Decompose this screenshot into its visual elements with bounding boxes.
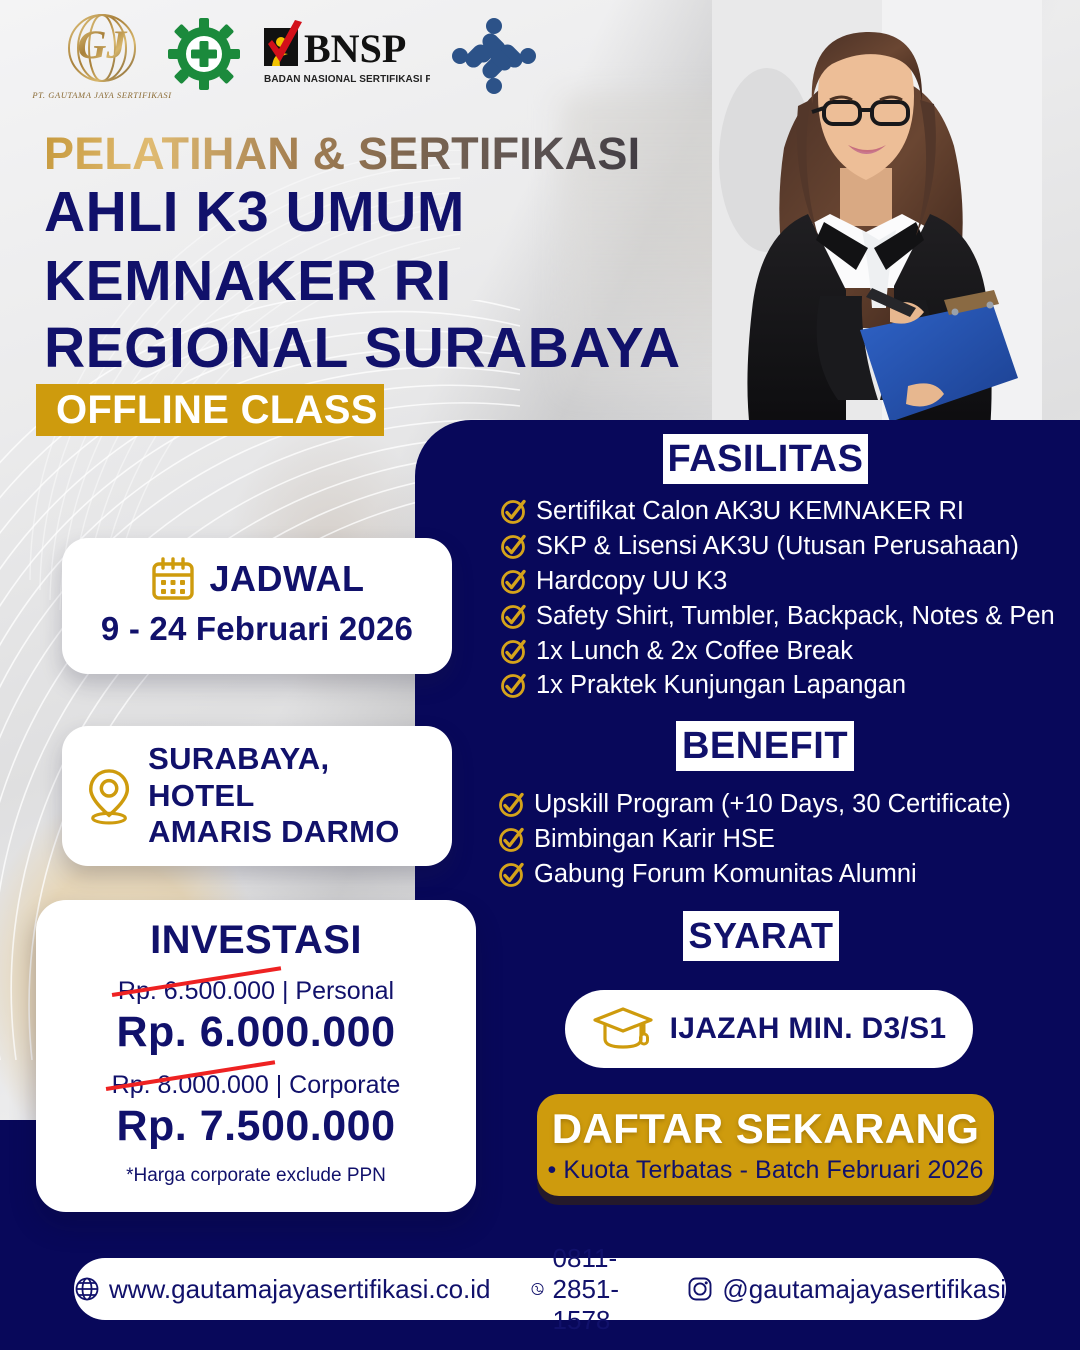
corporate-separator: |	[276, 1071, 283, 1099]
benefit-item-label: Gabung Forum Komunitas Alumni	[534, 858, 917, 891]
personal-label: Personal	[295, 977, 394, 1005]
check-circle-icon	[500, 533, 527, 560]
footer-instagram-text: @gautamajayasertifikasi	[722, 1274, 1006, 1305]
facilities-list: Sertifikat Calon AK3U KEMNAKER RISKP & L…	[500, 495, 1070, 704]
bnsp-wordmark: BNSP	[304, 26, 406, 71]
schedule-date: 9 - 24 Februari 2026	[62, 610, 452, 648]
location-line-2: AMARIS DARMO	[148, 814, 434, 851]
map-pin-icon	[84, 766, 134, 826]
calendar-icon	[150, 556, 196, 602]
facility-item: SKP & Lisensi AK3U (Utusan Perusahaan)	[500, 530, 1070, 563]
bnsp-logo-caption: BADAN NASIONAL SERTIFIKASI PROFESI	[264, 74, 430, 85]
investment-note: *Harga corporate exclude PPN	[36, 1165, 476, 1187]
footer-website-text: www.gautamajayasertifikasi.co.id	[109, 1274, 491, 1305]
graduation-cap-icon	[592, 1005, 654, 1053]
facility-item-label: Sertifikat Calon AK3U KEMNAKER RI	[536, 495, 964, 528]
footer-phone-text: 0811-2851-1578	[553, 1243, 648, 1336]
personal-old-price-wrap: Rp. 6.500.000	[118, 977, 275, 1006]
teamwork-pinwheel-logo	[450, 18, 538, 94]
hero-title-line-1: AHLI K3 UMUM	[44, 184, 465, 241]
benefit-item: Upskill Program (+10 Days, 30 Certificat…	[498, 788, 1073, 821]
footer-instagram[interactable]: @gautamajayasertifikasi	[687, 1274, 1006, 1305]
investment-card: INVESTASI Rp. 6.500.000 | Personal Rp. 6…	[36, 900, 476, 1212]
benefit-list: Upskill Program (+10 Days, 30 Certificat…	[498, 788, 1073, 893]
hero-eyebrow: PELATIHAN & SERTIFIKASI	[44, 128, 640, 180]
register-now-subtitle: • Kuota Terbatas - Batch Februari 2026	[548, 1156, 984, 1185]
benefit-item-label: Upskill Program (+10 Days, 30 Certificat…	[534, 788, 1011, 821]
facility-item-label: 1x Praktek Kunjungan Lapangan	[536, 669, 906, 702]
requirement-text: IJAZAH MIN. D3/S1	[670, 1012, 947, 1046]
benefit-item: Gabung Forum Komunitas Alumni	[498, 858, 1073, 891]
poster-root: GJ PT. GAUTAMA JAYA SERTIFIKASI	[0, 0, 1080, 1350]
personal-separator: |	[282, 977, 289, 1005]
facility-item: Safety Shirt, Tumbler, Backpack, Notes &…	[500, 600, 1070, 633]
personal-new-price: Rp. 6.000.000	[36, 1008, 476, 1057]
benefit-heading: BENEFIT	[676, 721, 854, 771]
facility-item-label: SKP & Lisensi AK3U (Utusan Perusahaan)	[536, 530, 1019, 563]
contact-footer-bar: www.gautamajayasertifikasi.co.id 0811-28…	[74, 1258, 1006, 1320]
check-circle-icon	[498, 791, 525, 818]
offline-class-badge-label: OFFLINE CLASS	[36, 388, 378, 433]
cta-bullet: •	[548, 1156, 557, 1184]
benefit-item-label: Bimbingan Karir HSE	[534, 823, 775, 856]
gautama-jaya-sertifikasi-logo: GJ PT. GAUTAMA JAYA SERTIFIKASI	[28, 8, 176, 104]
schedule-label: JADWAL	[210, 558, 365, 600]
corporate-new-price: Rp. 7.500.000	[36, 1102, 476, 1151]
schedule-card: JADWAL 9 - 24 Februari 2026	[62, 538, 452, 674]
benefit-item: Bimbingan Karir HSE	[498, 823, 1073, 856]
gjs-logo-caption: PT. GAUTAMA JAYA SERTIFIKASI	[31, 90, 172, 100]
logo-strip: GJ PT. GAUTAMA JAYA SERTIFIKASI	[0, 0, 1080, 110]
requirement-pill: IJAZAH MIN. D3/S1	[565, 990, 973, 1068]
check-circle-icon	[500, 568, 527, 595]
hero-title-line-2: KEMNAKER RI	[44, 253, 452, 310]
check-circle-icon	[498, 826, 525, 853]
facility-item-label: 1x Lunch & 2x Coffee Break	[536, 635, 853, 668]
svg-text:GJ: GJ	[78, 22, 129, 67]
check-circle-icon	[500, 638, 527, 665]
requirement-heading: SYARAT	[683, 911, 839, 961]
check-circle-icon	[500, 672, 527, 699]
bnsp-logo: BNSP BADAN NASIONAL SERTIFIKASI PROFESI	[262, 20, 430, 92]
footer-phone[interactable]: 0811-2851-1578	[531, 1243, 648, 1336]
instagram-icon	[687, 1276, 713, 1302]
corporate-old-price-row: Rp. 8.000.000 | Corporate	[36, 1071, 476, 1100]
facility-item: Sertifikat Calon AK3U KEMNAKER RI	[500, 495, 1070, 528]
location-line-1: SURABAYA, HOTEL	[148, 741, 434, 814]
personal-old-price-row: Rp. 6.500.000 | Personal	[36, 977, 476, 1006]
location-text: SURABAYA, HOTEL AMARIS DARMO	[148, 741, 434, 851]
facility-item: 1x Lunch & 2x Coffee Break	[500, 635, 1070, 668]
footer-website[interactable]: www.gautamajayasertifikasi.co.id	[74, 1274, 491, 1305]
location-card: SURABAYA, HOTEL AMARIS DARMO	[62, 726, 452, 866]
register-now-button[interactable]: DAFTAR SEKARANG • Kuota Terbatas - Batch…	[537, 1094, 994, 1196]
facility-item-label: Hardcopy UU K3	[536, 565, 727, 598]
corporate-label: Corporate	[289, 1071, 400, 1099]
register-now-title: DAFTAR SEKARANG	[552, 1105, 980, 1153]
facility-item-label: Safety Shirt, Tumbler, Backpack, Notes &…	[536, 600, 1055, 633]
offline-class-badge: OFFLINE CLASS	[36, 384, 384, 436]
phone-icon	[531, 1276, 544, 1302]
corporate-old-price-wrap: Rp. 8.000.000	[112, 1071, 269, 1100]
facility-item: 1x Praktek Kunjungan Lapangan	[500, 669, 1070, 702]
check-circle-icon	[500, 603, 527, 630]
facility-item: Hardcopy UU K3	[500, 565, 1070, 598]
check-circle-icon	[498, 861, 525, 888]
cta-subtitle-text: Kuota Terbatas - Batch Februari 2026	[563, 1156, 983, 1184]
investment-title: INVESTASI	[36, 918, 476, 963]
globe-icon	[74, 1276, 100, 1302]
k3-gear-cross-logo	[168, 18, 240, 90]
check-circle-icon	[500, 498, 527, 525]
hero-title-line-3: REGIONAL SURABAYA	[44, 320, 681, 377]
facilities-heading: FASILITAS	[663, 434, 868, 484]
